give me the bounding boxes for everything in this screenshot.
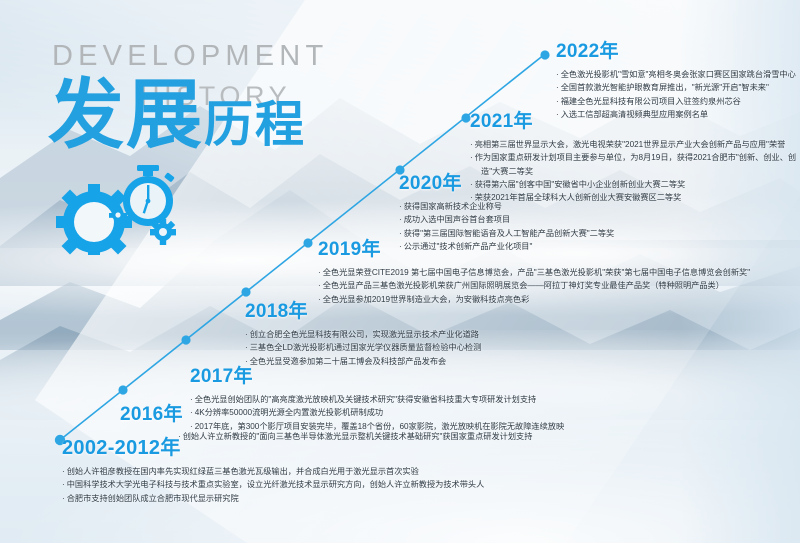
list-item: ·成功入选中国声谷首台套项目 [399, 213, 614, 226]
list-item: ·福建全色光显科技有限公司项目入驻签约泉州芯谷 [556, 95, 796, 108]
timeline-bullet-list: ·创立合肥全色光显科技有限公司，实现激光显示技术产业化道路 ·三基色全LD激光投… [245, 328, 481, 368]
stopwatch-icon [123, 165, 175, 226]
list-item: ·三基色全LD激光投影机通过国家光学仪器质量监督检验中心检测 [245, 341, 481, 354]
timeline-bullet-list: ·全色光显荣登CITE2019 第七届中国电子信息博览会，产品"三基色激光投影机… [318, 266, 750, 306]
timeline-year-label: 2019年 [318, 240, 750, 259]
small-gear-icon-2 [150, 219, 176, 245]
timeline-year-label: 2017年 [190, 367, 564, 386]
list-item: ·全国首款激光智能护眼教育屏推出，"新光源"开启"智未来" [556, 81, 796, 94]
timeline-entry-2002-2012[interactable]: 2002-2012年 ·创始人许祖彦教授在国内率先实现红绿蓝三基色激光瓦级输出，… [62, 438, 484, 505]
list-item: ·合肥市支持创始团队成立合肥市现代显示研究院 [62, 492, 484, 505]
list-item: ·获得国家高新技术企业称号 [399, 200, 614, 213]
list-item: ·作为国家重点研发计划项目主要参与单位，为8月19日，获得2021合肥市"创新、… [470, 151, 796, 164]
timeline-year-label: 2018年 [245, 302, 481, 321]
timeline-year-label: 2020年 [399, 174, 614, 193]
timeline-entry-2019[interactable]: 2019年 ·全色光显荣登CITE2019 第七届中国电子信息博览会，产品"三基… [318, 240, 750, 306]
timeline-year-label: 2021年 [470, 112, 796, 131]
page-title-primary: 发展 [48, 73, 204, 158]
list-item: ·全色光显荣登CITE2019 第七届中国电子信息博览会，产品"三基色激光投影机… [318, 266, 750, 279]
development-history-poster: DEVELOPMENT HISTORY 发展历程 [0, 0, 800, 543]
list-item: ·获得"第三届国际智能语音及人工智能产品创新大赛"二等奖 [399, 227, 614, 240]
list-item: ·创立合肥全色光显科技有限公司，实现激光显示技术产业化道路 [245, 328, 481, 341]
page-title-secondary: 历程 [204, 98, 306, 152]
timeline-entry-2022[interactable]: 2022年 ·全色激光投影机"雪如意"亮相冬奥会张家口赛区国家跳台滑雪中心 ·全… [556, 42, 796, 121]
list-item: ·中国科学技术大学光电子科技与技术重点实验室，设立光纤激光技术显示研究方向，创始… [62, 478, 484, 491]
gear-stopwatch-mark [42, 160, 212, 255]
page-title: 发展历程 [48, 78, 306, 154]
list-item: ·全色光显受邀参加第二十届工博会及科技部产品发布会 [245, 355, 481, 368]
list-item: ·亮相第三届世界显示大会，激光电视荣获"2021世界显示产业大会创新产品与应用"… [470, 138, 796, 151]
list-item: ·创始人许祖彦教授在国内率先实现红绿蓝三基色激光瓦级输出，并合成白光用于激光显示… [62, 465, 484, 478]
timeline-bullet-list: ·创始人许祖彦教授在国内率先实现红绿蓝三基色激光瓦级输出，并合成白光用于激光显示… [62, 465, 484, 505]
list-item: ·全色光显产品三基色激光投影机荣获广州国际照明展览会——阿拉丁神灯奖专业最佳产品… [318, 279, 750, 292]
list-item: ·全色激光投影机"雪如意"亮相冬奥会张家口赛区国家跳台滑雪中心 [556, 68, 796, 81]
timeline-year-label: 2002-2012年 [62, 438, 484, 458]
timeline-year-label: 2016年 [120, 405, 532, 424]
timeline-year-label: 2022年 [556, 42, 796, 61]
timeline-entry-2018[interactable]: 2018年 ·创立合肥全色光显科技有限公司，实现激光显示技术产业化道路 ·三基色… [245, 302, 481, 368]
